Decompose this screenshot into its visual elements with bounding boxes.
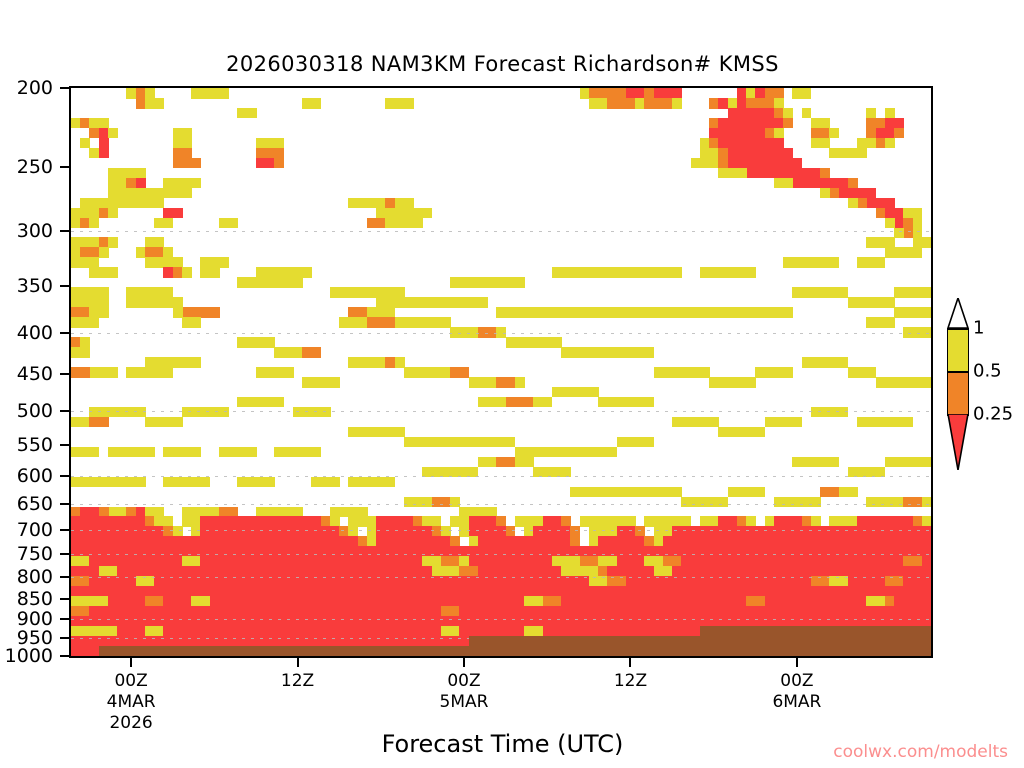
heatmap-cell bbox=[265, 477, 275, 488]
heatmap-cell bbox=[866, 198, 876, 209]
heatmap-cell bbox=[200, 477, 210, 488]
heatmap-cell bbox=[173, 417, 183, 428]
heatmap-cell bbox=[80, 138, 90, 149]
heatmap-cell bbox=[191, 357, 201, 368]
heatmap-cell bbox=[395, 427, 405, 438]
heatmap-cell bbox=[746, 516, 756, 527]
y-tick-mark bbox=[60, 475, 69, 477]
heatmap-cell bbox=[108, 208, 118, 219]
y-tick-label: 750 bbox=[17, 543, 53, 565]
colorbar-above-arrow bbox=[947, 298, 969, 328]
heatmap-cell bbox=[395, 287, 405, 298]
heatmap-cell bbox=[173, 526, 183, 537]
heatmap-cell bbox=[913, 228, 923, 239]
x-tick-label: 00Z4MAR2026 bbox=[107, 671, 156, 734]
heatmap-cell bbox=[496, 516, 506, 527]
heatmap-cell bbox=[728, 168, 738, 179]
colorbar-tick-label: 0.25 bbox=[973, 404, 1013, 425]
heatmap-cell bbox=[210, 307, 220, 318]
y-tick-label: 300 bbox=[17, 220, 53, 242]
x-tick-mark bbox=[629, 658, 631, 667]
heatmap-cell bbox=[274, 397, 284, 408]
heatmap-cell bbox=[755, 487, 765, 498]
heatmap-cell bbox=[783, 367, 793, 378]
heatmap-cell bbox=[922, 606, 932, 617]
heatmap-cell bbox=[635, 526, 645, 537]
x-tick-date: 6MAR bbox=[772, 692, 821, 713]
x-tick-time: 00Z bbox=[772, 671, 821, 692]
heatmap-cell bbox=[811, 497, 821, 508]
heatmap-cell bbox=[681, 516, 691, 527]
heatmap-cell bbox=[99, 148, 109, 159]
heatmap-cell bbox=[820, 168, 830, 179]
heatmap-cell bbox=[922, 327, 932, 338]
heatmap-cell bbox=[311, 447, 321, 458]
heatmap-cell bbox=[709, 417, 719, 428]
heatmap-cell bbox=[182, 148, 192, 159]
heatmap-cell bbox=[515, 277, 525, 288]
heatmap-cell bbox=[922, 457, 932, 468]
heatmap-cell bbox=[450, 536, 460, 547]
heatmap-cell bbox=[136, 477, 146, 488]
heatmap-cell bbox=[746, 267, 756, 278]
y-tick-label: 250 bbox=[17, 156, 53, 178]
heatmap-cell bbox=[876, 257, 886, 268]
heatmap-cell bbox=[154, 98, 164, 109]
heatmap-cell bbox=[913, 208, 923, 219]
y-tick-label: 400 bbox=[17, 322, 53, 344]
heatmap-cell bbox=[894, 118, 904, 129]
heatmap-cell bbox=[783, 168, 793, 179]
heatmap-cell bbox=[108, 367, 118, 378]
heatmap-cell bbox=[450, 497, 460, 508]
y-tick-label: 500 bbox=[17, 400, 53, 422]
heatmap-cell bbox=[432, 516, 442, 527]
y-tick-mark bbox=[60, 529, 69, 531]
heatmap-cell bbox=[163, 287, 173, 298]
heatmap-cell bbox=[866, 367, 876, 378]
heatmap-cell bbox=[561, 467, 571, 478]
heatmap-cell bbox=[672, 98, 682, 109]
heatmap-cell bbox=[321, 407, 331, 418]
heatmap-cell bbox=[820, 118, 830, 129]
heatmap-cell bbox=[182, 128, 192, 139]
heatmap-cell bbox=[145, 447, 155, 458]
heatmap-cell bbox=[330, 377, 340, 388]
colorbar-below-arrow bbox=[947, 414, 969, 470]
heatmap-cell bbox=[922, 497, 932, 508]
heatmap-cell bbox=[820, 188, 830, 199]
heatmap-plot-area bbox=[69, 86, 933, 658]
heatmap-cell bbox=[922, 596, 932, 607]
heatmap-cell bbox=[802, 178, 812, 189]
heatmap-cell bbox=[311, 347, 321, 358]
heatmap-cell bbox=[330, 516, 340, 527]
colorbar-legend: 10.50.25 bbox=[947, 300, 969, 470]
heatmap-cell bbox=[839, 357, 849, 368]
heatmap-cell bbox=[644, 347, 654, 358]
heatmap-cell bbox=[765, 168, 775, 179]
heatmap-cell bbox=[136, 168, 146, 179]
heatmap-cell bbox=[848, 188, 858, 199]
heatmap-cell bbox=[746, 168, 756, 179]
heatmap-cell bbox=[820, 138, 830, 149]
heatmap-cell bbox=[774, 138, 784, 149]
x-tick-date: 5MAR bbox=[440, 692, 489, 713]
heatmap-cell bbox=[913, 218, 923, 229]
heatmap-cell bbox=[922, 377, 932, 388]
heatmap-cell bbox=[774, 98, 784, 109]
heatmap-cell bbox=[422, 208, 432, 219]
heatmap-cell bbox=[459, 367, 469, 378]
heatmap-cell bbox=[99, 247, 109, 258]
heatmap-cell bbox=[922, 566, 932, 577]
heatmap-cell bbox=[774, 168, 784, 179]
heatmap-cell bbox=[672, 267, 682, 278]
heatmap-cell bbox=[755, 427, 765, 438]
heatmap-cell bbox=[922, 636, 932, 647]
heatmap-cell bbox=[848, 198, 858, 209]
heatmap-cell bbox=[644, 397, 654, 408]
heatmap-cell bbox=[922, 546, 932, 557]
heatmap-cell bbox=[99, 417, 109, 428]
y-tick-label: 700 bbox=[17, 519, 53, 541]
gridline bbox=[71, 656, 931, 657]
heatmap-cell bbox=[857, 198, 867, 209]
heatmap-cell bbox=[561, 516, 571, 527]
y-tick-mark bbox=[60, 618, 69, 620]
heatmap-cell bbox=[99, 507, 109, 518]
heatmap-cell bbox=[506, 437, 516, 448]
heatmap-cell bbox=[922, 626, 932, 637]
heatmap-cell bbox=[922, 526, 932, 537]
heatmap-cell bbox=[99, 477, 109, 488]
heatmap-cell bbox=[219, 88, 229, 99]
y-tick-mark bbox=[60, 444, 69, 446]
heatmap-cell bbox=[228, 507, 238, 518]
y-tick-label: 450 bbox=[17, 363, 53, 385]
x-tick-date: 4MAR bbox=[107, 692, 156, 713]
heatmap-cell bbox=[99, 307, 109, 318]
heatmap-cell bbox=[894, 228, 904, 239]
heatmap-cell bbox=[885, 237, 895, 248]
heatmap-cell bbox=[358, 507, 368, 518]
heatmap-cell bbox=[191, 158, 201, 169]
heatmap-cell bbox=[80, 337, 90, 348]
heatmap-cell bbox=[515, 377, 525, 388]
heatmap-cell bbox=[163, 367, 173, 378]
y-tick-label: 200 bbox=[17, 77, 53, 99]
heatmap-cell bbox=[385, 477, 395, 488]
heatmap-cell bbox=[922, 536, 932, 547]
heatmap-cell bbox=[506, 526, 516, 537]
heatmap-cell bbox=[829, 457, 839, 468]
x-tick-time: 00Z bbox=[440, 671, 489, 692]
heatmap-cell bbox=[885, 138, 895, 149]
heatmap-cell bbox=[145, 88, 155, 99]
heatmap-cell bbox=[543, 397, 553, 408]
y-tick-mark bbox=[60, 553, 69, 555]
heatmap-cell bbox=[570, 526, 580, 537]
heatmap-cell bbox=[108, 128, 118, 139]
heatmap-cell bbox=[866, 188, 876, 199]
heatmap-cell bbox=[302, 267, 312, 278]
y-tick-label: 800 bbox=[17, 566, 53, 588]
heatmap-cell bbox=[311, 98, 321, 109]
heatmap-cell bbox=[755, 168, 765, 179]
heatmap-cell bbox=[644, 437, 654, 448]
heatmap-cell bbox=[839, 188, 849, 199]
y-tick-mark bbox=[60, 87, 69, 89]
heatmap-cell bbox=[89, 447, 99, 458]
colorbar-band-orange bbox=[947, 371, 969, 414]
heatmap-cell bbox=[99, 287, 109, 298]
heatmap-cell bbox=[413, 218, 423, 229]
heatmap-cell bbox=[478, 297, 488, 308]
heatmap-cell bbox=[876, 467, 886, 478]
heatmap-cell bbox=[496, 327, 506, 338]
heatmap-cell bbox=[136, 178, 146, 189]
y-tick-mark bbox=[60, 503, 69, 505]
heatmap-cell bbox=[672, 487, 682, 498]
heatmap-cell bbox=[154, 188, 164, 199]
x-tick-mark bbox=[297, 658, 299, 667]
x-tick-label: 12Z bbox=[614, 671, 647, 692]
heatmap-cell bbox=[848, 178, 858, 189]
heatmap-cell bbox=[284, 367, 294, 378]
heatmap-cell bbox=[274, 158, 284, 169]
heatmap-cell bbox=[228, 218, 238, 229]
y-tick-mark bbox=[60, 576, 69, 578]
heatmap-cell bbox=[829, 128, 839, 139]
heatmap-cell bbox=[607, 447, 617, 458]
heatmap-cell bbox=[487, 507, 497, 518]
colorbar-tick-label: 0.5 bbox=[973, 361, 1002, 382]
x-tick-time: 12Z bbox=[281, 671, 314, 692]
heatmap-cell bbox=[385, 307, 395, 318]
heatmap-cell bbox=[99, 118, 109, 129]
x-tick-label: 12Z bbox=[281, 671, 314, 692]
y-tick-label: 1000 bbox=[5, 645, 53, 667]
heatmap-cell bbox=[80, 367, 90, 378]
y-tick-label: 350 bbox=[17, 275, 53, 297]
heatmap-cell bbox=[626, 516, 636, 527]
heatmap-cell bbox=[811, 516, 821, 527]
x-tick-label: 00Z5MAR bbox=[440, 671, 489, 713]
heatmap-cell bbox=[173, 208, 183, 219]
y-axis: 2002503003504004505005506006507007508008… bbox=[0, 86, 69, 658]
heatmap-cell bbox=[903, 327, 913, 338]
y-tick-label: 600 bbox=[17, 465, 53, 487]
heatmap-cell bbox=[783, 108, 793, 119]
heatmap-cell bbox=[219, 407, 229, 418]
heatmap-cell bbox=[404, 198, 414, 209]
y-tick-label: 850 bbox=[17, 588, 53, 610]
heatmap-cell bbox=[792, 417, 802, 428]
heatmap-cell bbox=[922, 516, 932, 527]
heatmap-cell bbox=[922, 556, 932, 567]
watermark: coolwx.com/modelts bbox=[0, 742, 1008, 762]
heatmap-cell bbox=[524, 457, 534, 468]
heatmap-cell bbox=[876, 208, 886, 219]
heatmap-cell bbox=[154, 507, 164, 518]
heatmap-cell bbox=[802, 108, 812, 119]
y-tick-mark bbox=[60, 285, 69, 287]
heatmap-cell bbox=[792, 168, 802, 179]
heatmap-cell bbox=[903, 417, 913, 428]
heatmap-cell bbox=[552, 337, 562, 348]
heatmap-cell bbox=[783, 178, 793, 189]
heatmap-cell bbox=[589, 387, 599, 398]
x-tick-mark bbox=[796, 658, 798, 667]
heatmap-cell bbox=[108, 267, 118, 278]
y-tick-mark bbox=[60, 637, 69, 639]
heatmap-cell bbox=[247, 108, 257, 119]
y-tick-mark bbox=[60, 598, 69, 600]
heatmap-cell bbox=[922, 616, 932, 627]
heatmap-cell bbox=[922, 237, 932, 248]
heatmap-cell bbox=[274, 138, 284, 149]
heatmap-cell bbox=[811, 178, 821, 189]
heatmap-cell bbox=[469, 467, 479, 478]
heatmap-cell bbox=[191, 178, 201, 189]
heatmap-cell bbox=[922, 576, 932, 587]
heatmap-cell bbox=[922, 307, 932, 318]
heatmap-cell bbox=[274, 148, 284, 159]
heatmap-cell bbox=[219, 257, 229, 268]
heatmap-cell bbox=[922, 646, 932, 657]
heatmap-cell bbox=[163, 218, 173, 229]
heatmap-cell bbox=[839, 407, 849, 418]
heatmap-cell bbox=[293, 277, 303, 288]
heatmap-cell bbox=[395, 357, 405, 368]
heatmap-cell bbox=[210, 267, 220, 278]
heatmap-cell bbox=[89, 218, 99, 229]
y-tick-label: 550 bbox=[17, 434, 53, 456]
heatmap-cell bbox=[718, 497, 728, 508]
heatmap-cell bbox=[885, 198, 895, 209]
heatmap-cell bbox=[857, 148, 867, 159]
heatmap-cell bbox=[173, 297, 183, 308]
y-tick-mark bbox=[60, 373, 69, 375]
heatmap-cell bbox=[265, 337, 275, 348]
x-tick-time: 00Z bbox=[107, 671, 156, 692]
heatmap-cell bbox=[441, 317, 451, 328]
heatmap-cell bbox=[108, 237, 118, 248]
heatmap-cell bbox=[404, 98, 414, 109]
heatmap-cell bbox=[191, 447, 201, 458]
heatmap-cell bbox=[922, 586, 932, 597]
heatmap-cell bbox=[783, 148, 793, 159]
colorbar-tick-label: 1 bbox=[973, 318, 984, 339]
chart-canvas: 2026030318 NAM3KM Forecast Richardson# K… bbox=[0, 0, 1024, 768]
heatmap-cell bbox=[191, 317, 201, 328]
colorbar-band-yellow bbox=[947, 328, 969, 371]
heatmap-cell bbox=[885, 218, 895, 229]
heatmap-cell bbox=[80, 347, 90, 358]
heatmap-cell bbox=[792, 178, 802, 189]
heatmap-cell bbox=[913, 247, 923, 258]
heatmap-cell bbox=[182, 188, 192, 199]
heatmap-cell bbox=[154, 198, 164, 209]
page-title: 2026030318 NAM3KM Forecast Richardson# K… bbox=[0, 52, 1005, 76]
x-tick-mark bbox=[463, 658, 465, 667]
y-tick-mark bbox=[60, 655, 69, 657]
heatmap-cell bbox=[293, 507, 303, 518]
heatmap-cell bbox=[922, 287, 932, 298]
heatmap-cell bbox=[163, 247, 173, 258]
y-tick-mark bbox=[60, 332, 69, 334]
heatmap-cell bbox=[829, 257, 839, 268]
heatmap-cell bbox=[885, 297, 895, 308]
heatmap-cell bbox=[737, 168, 747, 179]
heatmap-cell bbox=[496, 397, 506, 408]
heatmap-cell bbox=[136, 407, 146, 418]
heatmap-cell bbox=[774, 128, 784, 139]
heatmap-cell bbox=[182, 267, 192, 278]
heatmap-cell bbox=[330, 477, 340, 488]
heatmap-cell bbox=[718, 168, 728, 179]
heatmap-cell bbox=[89, 257, 99, 268]
y-tick-mark bbox=[60, 410, 69, 412]
heatmap-cell bbox=[829, 188, 839, 199]
heatmap-cell bbox=[774, 88, 784, 99]
x-tick-mark bbox=[130, 658, 132, 667]
colorbar-separator bbox=[947, 328, 969, 330]
heatmap-cell bbox=[99, 138, 109, 149]
y-tick-mark bbox=[60, 166, 69, 168]
heatmap-cell bbox=[348, 526, 358, 537]
heatmap-cell bbox=[885, 108, 895, 119]
y-tick-mark bbox=[60, 230, 69, 232]
heatmap-cell bbox=[700, 367, 710, 378]
heatmap-cell bbox=[163, 516, 173, 527]
heatmap-cell bbox=[894, 128, 904, 139]
heatmap-cell bbox=[802, 88, 812, 99]
heatmap-cell bbox=[839, 287, 849, 298]
heatmap-cell bbox=[820, 178, 830, 189]
heatmap-cell bbox=[672, 88, 682, 99]
x-tick-label: 00Z6MAR bbox=[772, 671, 821, 713]
heatmap-cell bbox=[774, 178, 784, 189]
heatmap-cell bbox=[783, 307, 793, 318]
colorbar-separator bbox=[947, 371, 969, 373]
heatmap-cell bbox=[89, 317, 99, 328]
heatmap-cell bbox=[441, 526, 451, 537]
heatmap-cell bbox=[885, 317, 895, 328]
heatmap-cell bbox=[746, 377, 756, 388]
heatmap-cell bbox=[182, 138, 192, 149]
x-tick-time: 12Z bbox=[614, 671, 647, 692]
heatmap-cell bbox=[247, 447, 257, 458]
heatmap-cell bbox=[792, 158, 802, 169]
heatmap-cell bbox=[154, 237, 164, 248]
heatmap-cell bbox=[570, 536, 580, 547]
heatmap-cell bbox=[173, 307, 183, 318]
heatmap-cell bbox=[783, 118, 793, 129]
heatmap-cell bbox=[866, 108, 876, 119]
heatmap-cell bbox=[848, 487, 858, 498]
y-tick-label: 650 bbox=[17, 493, 53, 515]
heatmap-cell bbox=[99, 297, 109, 308]
heatmap-cell bbox=[173, 257, 183, 268]
heatmap-cells bbox=[71, 88, 931, 656]
